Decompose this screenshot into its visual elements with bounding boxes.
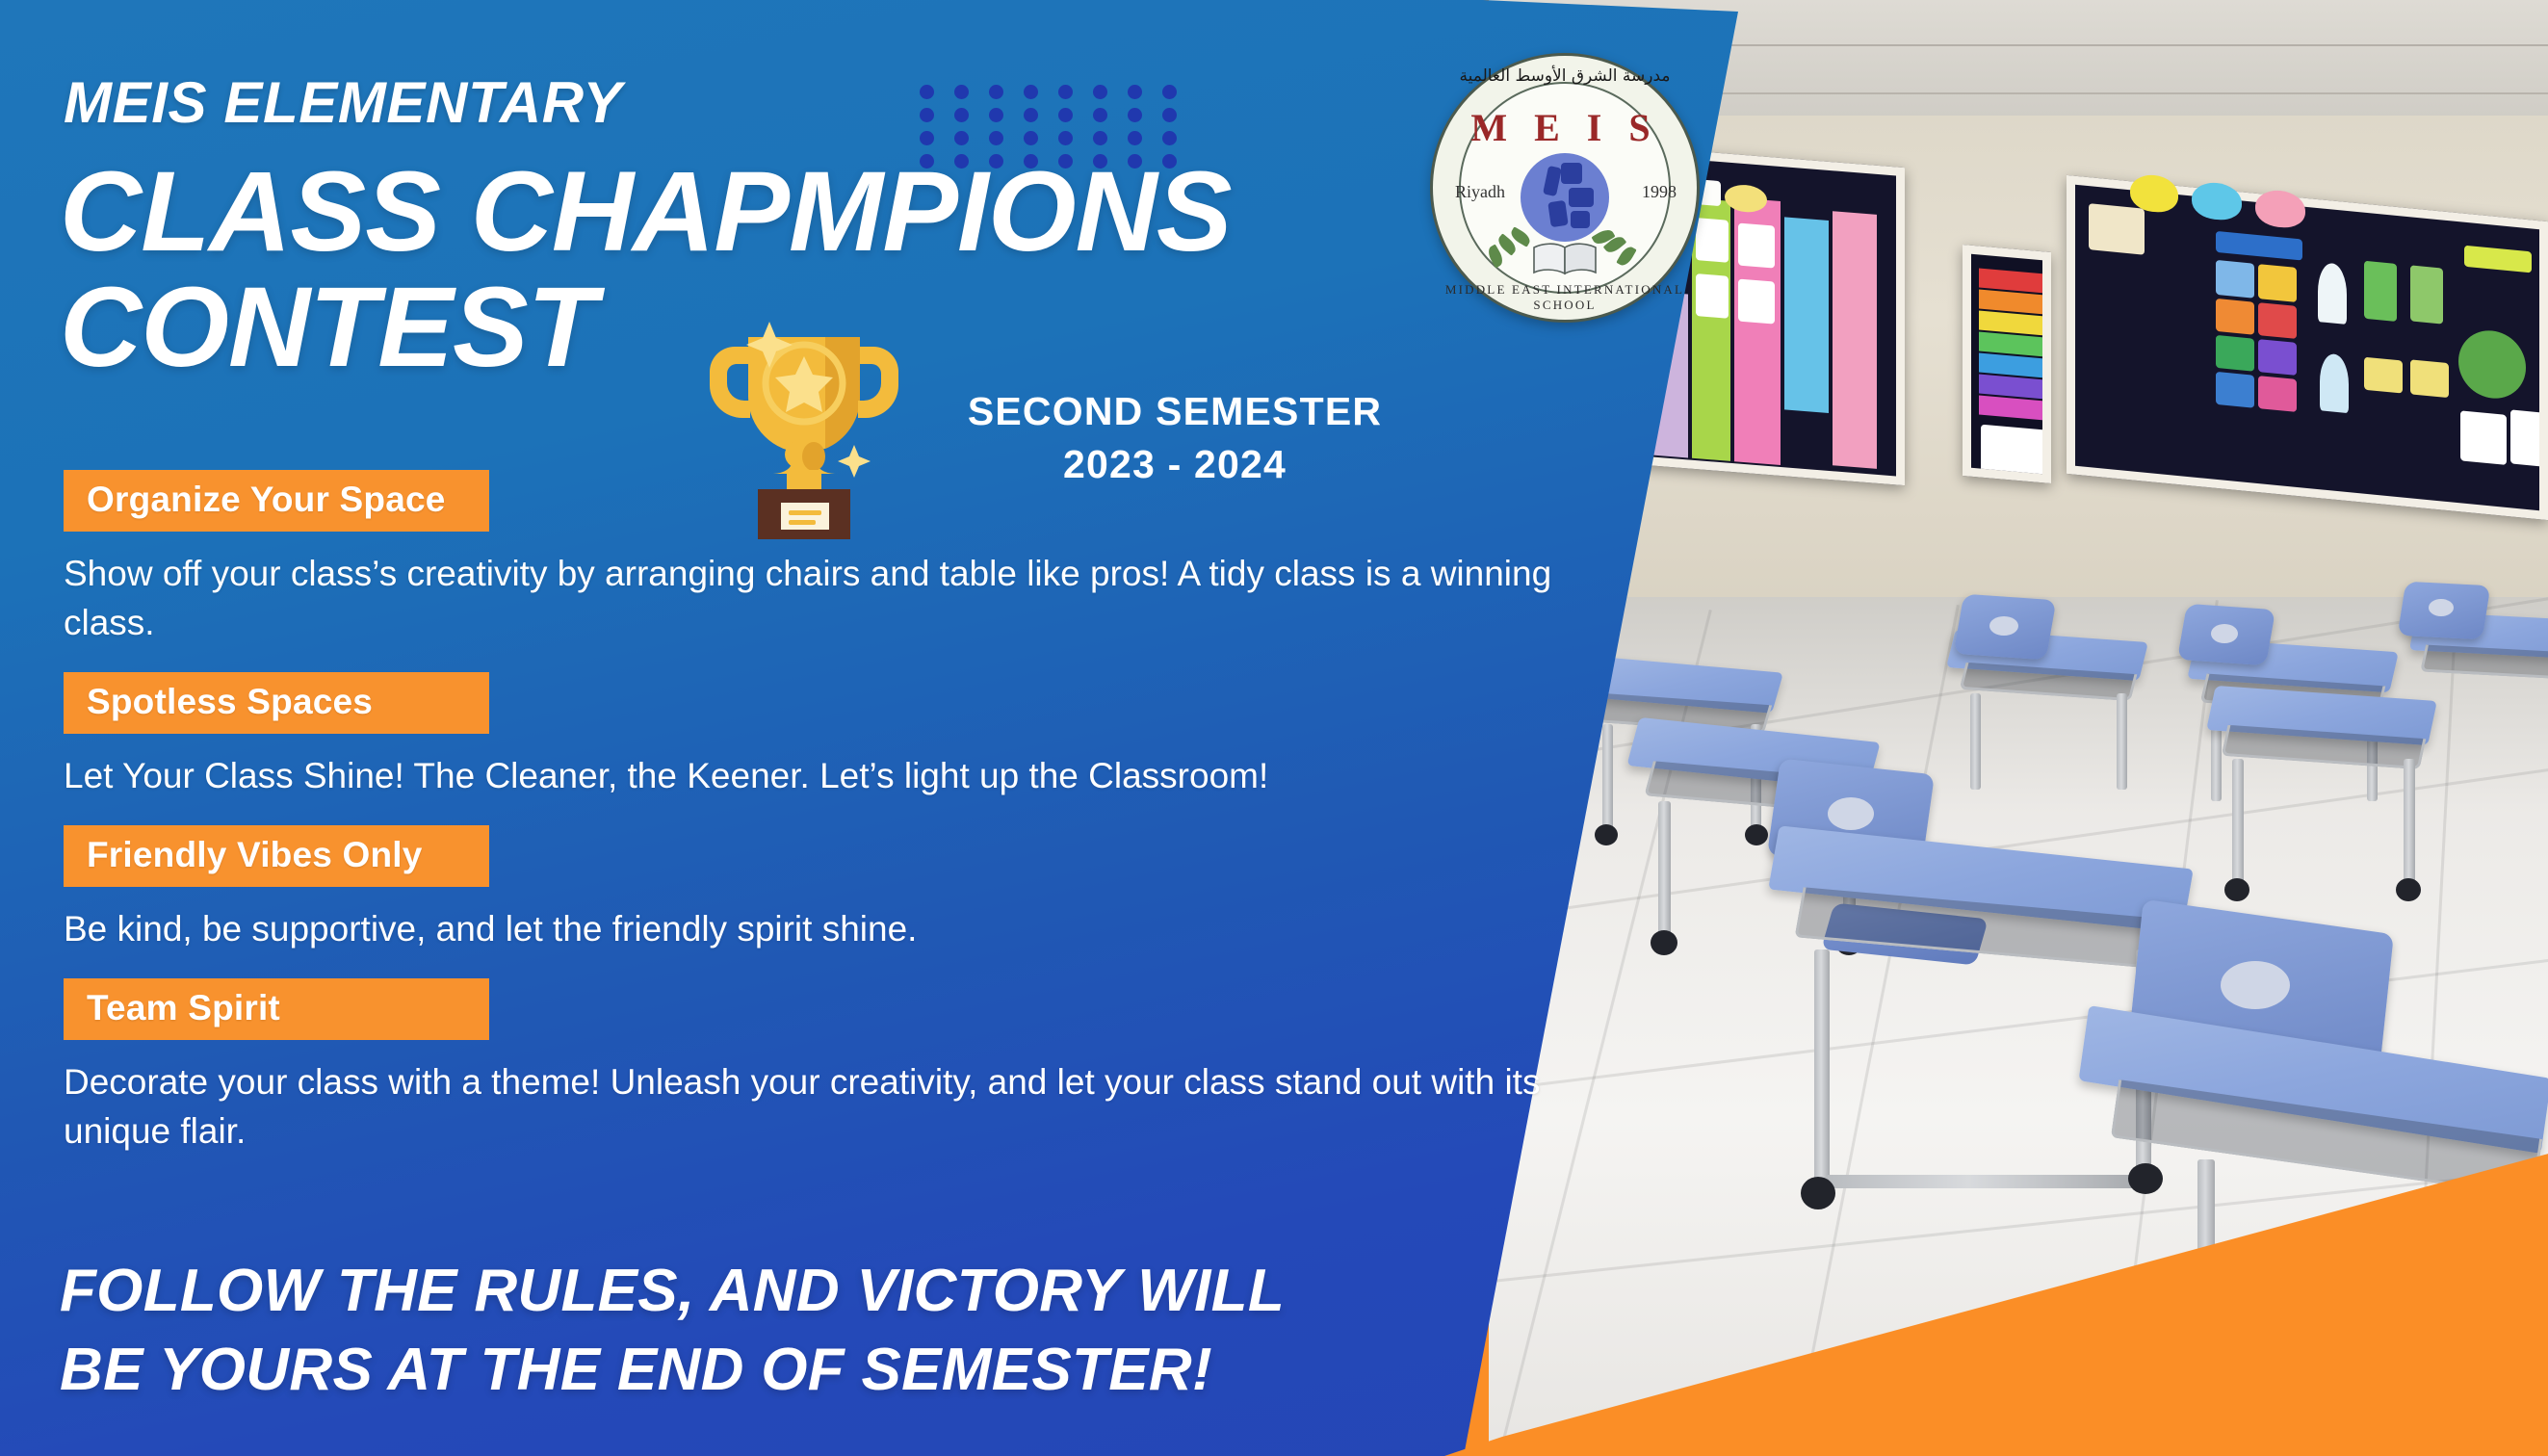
- rule-description: Let Your Class Shine! The Cleaner, the K…: [64, 751, 1614, 800]
- rules-list: Organize Your Space Show off your class’…: [64, 470, 1624, 1181]
- cta-line-2: BE YOURS AT THE END OF SEMESTER!: [60, 1331, 1504, 1410]
- bulletin-board-right: [2067, 175, 2548, 520]
- rule-description: Decorate your class with a theme! Unleas…: [64, 1057, 1566, 1156]
- rule-badge-organize-your-space[interactable]: Organize Your Space: [64, 470, 489, 532]
- open-book-icon: [1530, 242, 1599, 276]
- title-line-1: CLASS CHAPMPIONS: [60, 148, 1232, 275]
- rule-badge-spotless-spaces[interactable]: Spotless Spaces: [64, 672, 489, 734]
- logo-acronym: M E I S: [1430, 105, 1700, 150]
- rule-item: Spotless Spaces Let Your Class Shine! Th…: [64, 672, 1624, 800]
- rule-badge-team-spirit[interactable]: Team Spirit: [64, 978, 489, 1040]
- rule-item: Team Spirit Decorate your class with a t…: [64, 978, 1624, 1156]
- logo-school-name: MIDDLE EAST INTERNATIONAL SCHOOL: [1430, 282, 1700, 313]
- semester-text: SECOND SEMESTER: [968, 389, 1382, 433]
- logo-city: Riyadh: [1455, 182, 1505, 202]
- poster-content: MEIS ELEMENTARY CLASS CHAPMPIONS CONTEST: [0, 0, 1637, 1456]
- rule-item: Organize Your Space Show off your class’…: [64, 470, 1624, 647]
- poster-canvas: MEIS ELEMENTARY CLASS CHAPMPIONS CONTEST: [0, 0, 2548, 1456]
- logo-arabic-name: مدرسة الشرق الأوسط العالمية: [1430, 66, 1700, 86]
- rule-description: Show off your class’s creativity by arra…: [64, 549, 1609, 647]
- logo-year: 1998: [1642, 182, 1677, 202]
- globe-icon: [1521, 153, 1609, 242]
- page-title: CLASS CHAPMPIONS CONTEST: [60, 154, 1232, 386]
- rule-description: Be kind, be supportive, and let the frie…: [64, 904, 1614, 953]
- title-line-2: CONTEST: [60, 270, 1232, 385]
- cta-line-1: FOLLOW THE RULES, AND VICTORY WILL: [60, 1252, 1504, 1331]
- rule-badge-friendly-vibes-only[interactable]: Friendly Vibes Only: [64, 825, 489, 887]
- bulletin-board-chart: [1963, 245, 2051, 483]
- school-logo: مدرسة الشرق الأوسط العالمية M E I S Riya…: [1430, 53, 1700, 323]
- rule-item: Friendly Vibes Only Be kind, be supporti…: [64, 825, 1624, 953]
- call-to-action: FOLLOW THE RULES, AND VICTORY WILL BE YO…: [60, 1252, 1504, 1410]
- page-eyebrow: MEIS ELEMENTARY: [64, 69, 622, 136]
